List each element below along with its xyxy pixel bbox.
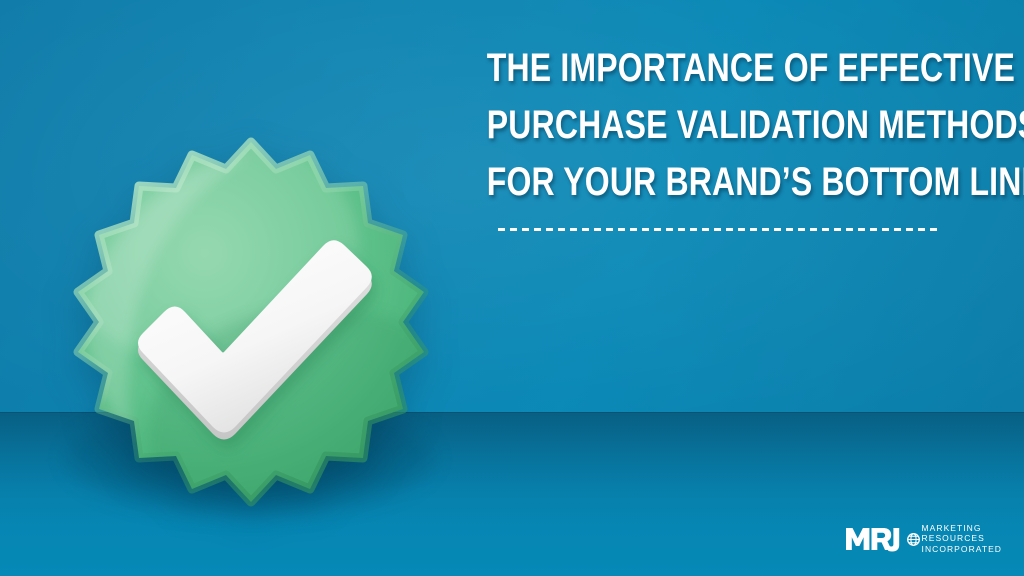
logo-right-group: MARKETING RESOURCES INCORPORATED xyxy=(907,524,1002,555)
headline-block: THE IMPORTANCE OF EFFECTIVE PURCHASE VAL… xyxy=(430,40,998,211)
logo-tagline: MARKETING RESOURCES INCORPORATED xyxy=(922,524,1002,555)
globe-grid-icon xyxy=(907,533,920,546)
verified-check-badge xyxy=(58,136,444,526)
headline-line-2: PURCHASE VALIDATION METHODS xyxy=(487,97,941,154)
headline-line-3: FOR YOUR BRAND’S BOTTOM LINE xyxy=(487,154,941,211)
check-badge-icon xyxy=(58,136,444,526)
logo-tagline-line-3: INCORPORATED xyxy=(922,545,1002,555)
mri-wordmark-icon xyxy=(846,526,902,552)
logo-tagline-line-2: RESOURCES xyxy=(922,534,1002,544)
blog-banner: THE IMPORTANCE OF EFFECTIVE PURCHASE VAL… xyxy=(0,0,1024,576)
headline-line-1: THE IMPORTANCE OF EFFECTIVE xyxy=(487,40,941,97)
mri-logo: MARKETING RESOURCES INCORPORATED xyxy=(846,522,1002,556)
dashed-divider xyxy=(498,228,938,231)
logo-tagline-line-1: MARKETING xyxy=(922,524,1002,534)
